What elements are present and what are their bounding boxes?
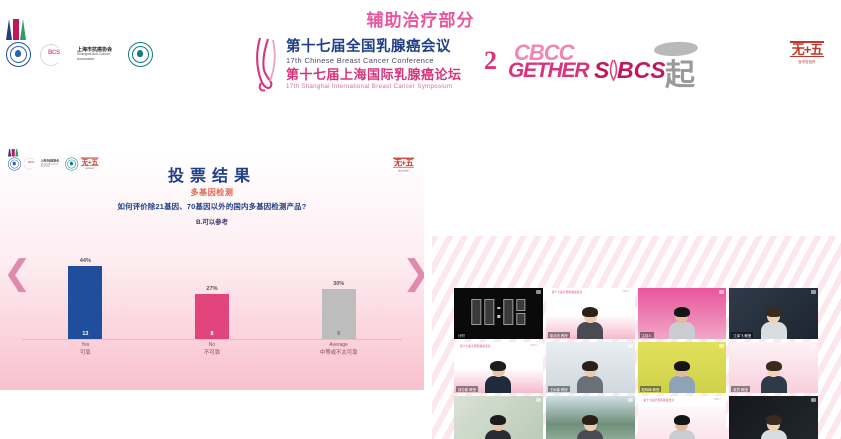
chart-bar: 13 — [68, 266, 102, 339]
pink-ribbon-icon — [252, 36, 282, 94]
chart-bar-column: 44%13 — [22, 247, 149, 339]
chart-bar: 9 — [322, 289, 356, 339]
participant-tile-8[interactable]: 吴炅 教授 — [729, 342, 818, 393]
together-number: 2 — [484, 46, 497, 76]
slide-question: 如何评价除21基因、70基因以外的国内多基因检测产品? — [0, 201, 424, 212]
chart-bar-column: 27%8 — [149, 247, 276, 339]
chart-bar-value: 9 — [337, 331, 340, 337]
microphone-icon — [628, 398, 633, 402]
microphone-icon — [536, 290, 541, 294]
slide-subtitle: 多基因检测 — [0, 187, 424, 198]
chart-category-label: No不可靠 — [149, 342, 276, 366]
participant-tile-4[interactable]: 江泽飞 教授 — [729, 288, 818, 339]
participant-tile-10[interactable]: 张剑 教授 — [546, 396, 635, 439]
stage-area: BCS 上海市抗癌协会Shanghai Anti-Cancer Associat… — [0, 118, 841, 439]
participant-figure — [761, 416, 787, 439]
microphone-icon — [811, 398, 816, 402]
microphone-icon — [719, 344, 724, 348]
wuxi-apptec-logo: 无+五 医学检验所 — [790, 40, 824, 66]
participant-tile-3[interactable]: 主持人 — [638, 288, 727, 339]
chart-bar: 8 — [195, 294, 229, 339]
participant-tile-5[interactable]: 第十七届全国乳腺癌会议CBCC邵志敏 教授 — [454, 342, 543, 393]
caca-logo-icon: 上海市抗癌协会 Shanghai Anti-Cancer Association — [77, 48, 119, 61]
qi-character: 起 — [665, 50, 695, 94]
chart-bar-percent: 30% — [333, 281, 344, 287]
participant-name-label: 计时 — [456, 332, 467, 338]
microphone-icon — [811, 344, 816, 348]
participant-name-label: 主持人 — [640, 332, 654, 338]
wuxi-logo-text: 无+五 — [790, 41, 824, 57]
participant-name-label: 王树森 教授 — [548, 386, 570, 392]
participant-figure — [669, 362, 695, 393]
chart-bar-percent: 44% — [80, 258, 91, 264]
participant-name-label: 殷咏梅 教授 — [640, 386, 662, 392]
slide-note: B.可以参考 — [0, 217, 424, 226]
microphone-icon — [719, 398, 724, 402]
participant-tile-11[interactable]: 第十七届全国乳腺癌会议CBCC胡夕春 教授 — [638, 396, 727, 439]
participant-figure — [577, 362, 603, 393]
chart-bar-value: 8 — [211, 331, 214, 337]
chart-bars: 44%1327%830%9 — [22, 247, 402, 339]
conference-title-cn: 第十七届全国乳腺癌会议 — [286, 39, 462, 55]
timer-display — [472, 299, 525, 325]
cbcc-together-sabcs-logo: 起 2 CBCC GETHER S BCS — [484, 40, 684, 92]
chart-bar-column: 30%9 — [275, 247, 402, 339]
microphone-icon — [719, 290, 724, 294]
cbcs-logo-icon: BCS — [40, 44, 68, 66]
chart-bar-value: 13 — [82, 331, 88, 337]
page-header: 辅助治疗部分 BCS 上海市抗癌协会 Shanghai Anti-Cancer … — [0, 0, 841, 118]
participant-tile-7[interactable]: 殷咏梅 教授 — [638, 342, 727, 393]
symposium-title-en: 17th Shanghai International Breast Cance… — [286, 83, 462, 91]
participant-name-label: 邵志敏 教授 — [456, 386, 478, 392]
chart-category-label: Average中等或不太可靠 — [275, 342, 402, 366]
participant-tile-12[interactable]: 刘健 教授 — [729, 396, 818, 439]
participant-figure — [485, 362, 511, 393]
cbcs-logo-label: BCS — [48, 50, 60, 56]
participant-figure — [577, 308, 603, 339]
participant-name-label: 徐兵河 教授 — [548, 332, 570, 338]
conference-title-en: 17th Chinese Breast Cancer Conference — [286, 56, 462, 65]
organization-logos: BCS 上海市抗癌协会 Shanghai Anti-Cancer Associa… — [6, 42, 153, 67]
participant-grid: 计时第十七届全国乳腺癌会议CBCC徐兵河 教授主持人江泽飞 教授第十七届全国乳腺… — [454, 288, 818, 439]
conference-banner-strip: 第十七届全国乳腺癌会议CBCC — [454, 342, 543, 353]
conference-logo: 第十七届全国乳腺癌会议 17th Chinese Breast Cancer C… — [252, 36, 462, 94]
participant-figure — [669, 308, 695, 339]
microphone-icon — [628, 290, 633, 294]
wuxi-logo-sub: 医学检验所 — [790, 59, 824, 64]
participant-tile-timer[interactable]: 计时 — [454, 288, 543, 339]
screen-root: 辅助治疗部分 BCS 上海市抗癌协会 Shanghai Anti-Cancer … — [0, 0, 841, 439]
vote-results-bar-chart: 44%1327%830%9 Yes可靠No不可靠Average中等或不太可靠 — [22, 244, 402, 366]
slide-prev-arrow[interactable]: ❮ — [3, 257, 32, 291]
microphone-icon — [536, 344, 541, 348]
chart-baseline — [22, 339, 402, 340]
participant-figure — [669, 416, 695, 439]
participant-tile-9[interactable]: 李俊杰 教授 — [454, 396, 543, 439]
presentation-slide[interactable]: BCS 上海市抗癌协会Shanghai Anti-Cancer Associat… — [0, 149, 424, 390]
participant-tile-6[interactable]: 王树森 教授 — [546, 342, 635, 393]
participant-figure — [761, 362, 787, 393]
chart-category-labels: Yes可靠No不可靠Average中等或不太可靠 — [22, 342, 402, 366]
bcs-wordmark: BCS — [617, 57, 666, 84]
participant-tile-2[interactable]: 第十七届全国乳腺癌会议CBCC徐兵河 教授 — [546, 288, 635, 339]
video-gallery: 计时第十七届全国乳腺癌会议CBCC徐兵河 教授主持人江泽飞 教授第十七届全国乳腺… — [432, 236, 841, 439]
caca-logo-sublabel: Shanghai Anti-Cancer Association — [77, 52, 110, 60]
participant-name-label: 江泽飞 教授 — [731, 332, 753, 338]
conference-banner-strip: 第十七届全国乳腺癌会议CBCC — [638, 396, 727, 407]
fudan-university-seal-icon — [128, 42, 153, 67]
microphone-icon — [536, 398, 541, 402]
slide-next-arrow[interactable]: ❯ — [402, 257, 424, 291]
slide-title: 投票结果 — [0, 162, 424, 186]
participant-figure — [485, 416, 511, 439]
conference-banner-strip: 第十七届全国乳腺癌会议CBCC — [546, 288, 635, 299]
chart-bar-percent: 27% — [206, 286, 217, 292]
chart-category-label: Yes可靠 — [22, 342, 149, 366]
chinese-medical-association-seal-icon — [6, 42, 31, 67]
symposium-title-cn: 第十七届上海国际乳腺癌论坛 — [286, 67, 462, 82]
microphone-icon — [811, 290, 816, 294]
participant-name-label: 吴炅 教授 — [731, 386, 750, 392]
microphone-icon — [628, 344, 633, 348]
participant-figure — [761, 308, 787, 339]
participant-figure — [577, 416, 603, 439]
gether-wordmark: GETHER — [508, 59, 588, 83]
